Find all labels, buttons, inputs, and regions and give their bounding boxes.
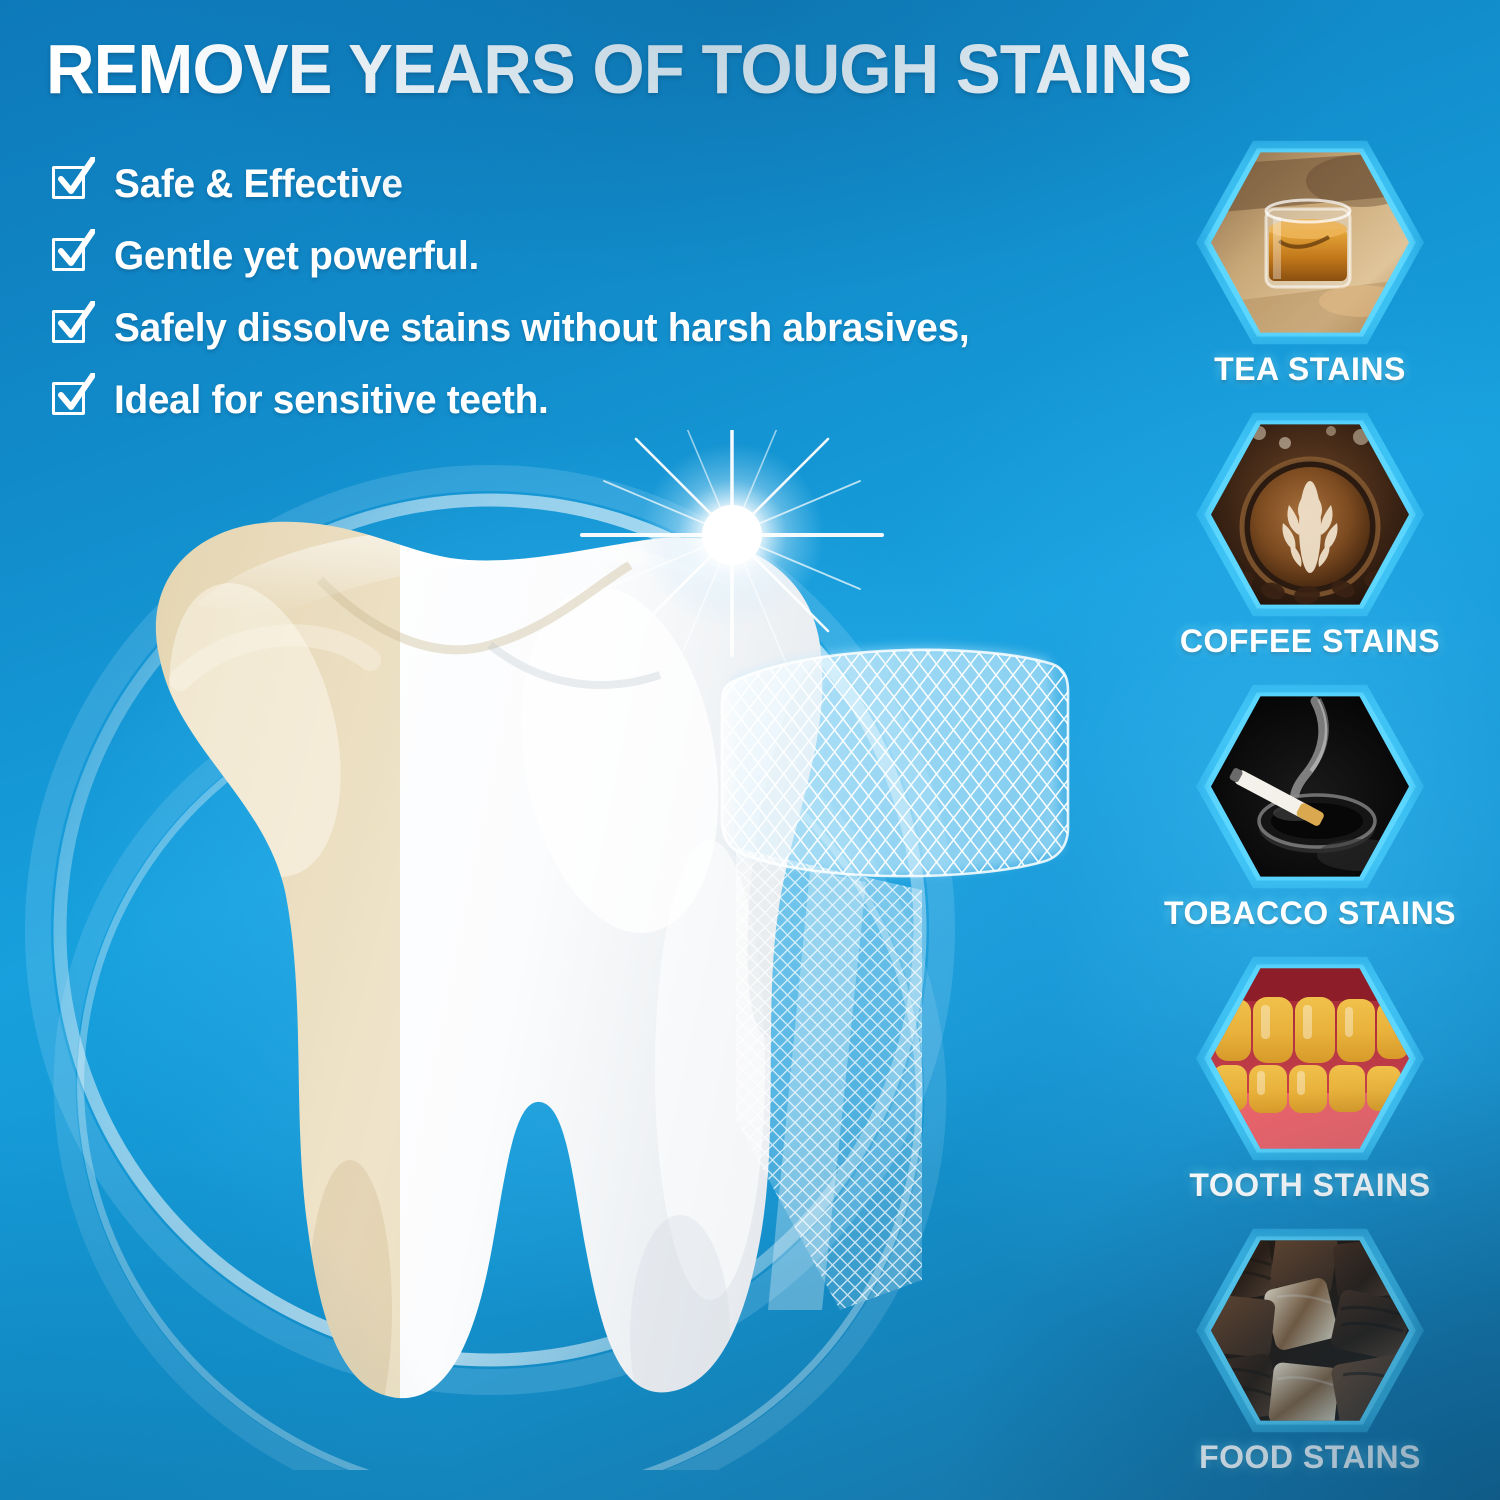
checkbox-checked-icon <box>52 236 92 276</box>
list-item: Safe & Effective <box>52 148 1092 220</box>
stain-badge-food: FOOD STAINS <box>1120 1228 1500 1476</box>
hexagon-frame <box>1200 956 1420 1161</box>
strip-face <box>722 650 1068 876</box>
stain-badge-label: TOOTH STAINS <box>1120 1167 1500 1204</box>
stain-badge-tooth: TOOTH STAINS <box>1120 956 1500 1204</box>
hexagon-frame <box>1200 1228 1420 1433</box>
list-item-label: Gentle yet powerful. <box>114 234 479 279</box>
stain-badge-label: FOOD STAINS <box>1120 1439 1500 1476</box>
hexagon-frame <box>1200 140 1420 345</box>
whitening-strip-mesh-icon <box>690 620 1110 1310</box>
page-title: REMOVE YEARS OF TOUGH STAINS <box>46 34 1409 104</box>
list-item: Ideal for sensitive teeth. <box>52 364 1092 436</box>
list-item-label: Ideal for sensitive teeth. <box>114 378 548 423</box>
stain-badge-label: TOBACCO STAINS <box>1120 895 1500 932</box>
stain-badge-label: COFFEE STAINS <box>1120 623 1500 660</box>
checkbox-checked-icon <box>52 308 92 348</box>
hexagon-frame <box>1200 412 1420 617</box>
list-item: Safely dissolve stains without harsh abr… <box>52 292 1092 364</box>
hexagon-frame <box>1200 684 1420 889</box>
list-item-label: Safe & Effective <box>114 162 403 207</box>
stain-badge-coffee: COFFEE STAINS <box>1120 412 1500 660</box>
stain-badge-tobacco: TOBACCO STAINS <box>1120 684 1500 932</box>
stain-badge-tea: TEA STAINS <box>1120 140 1500 388</box>
lower-teeth <box>1213 1065 1401 1113</box>
list-item: Gentle yet powerful. <box>52 220 1092 292</box>
stain-badge-label: TEA STAINS <box>1120 351 1500 388</box>
feature-checklist: Safe & Effective Gentle yet powerful. Sa… <box>52 148 1092 436</box>
list-item-label: Safely dissolve stains without harsh abr… <box>114 306 969 351</box>
checkbox-checked-icon <box>52 164 92 204</box>
stain-type-badge-list: TEA STAINS <box>1120 140 1500 1490</box>
product-marketing-banner: REMOVE YEARS OF TOUGH STAINS Safe & Effe… <box>0 0 1500 1500</box>
checkbox-checked-icon <box>52 380 92 420</box>
